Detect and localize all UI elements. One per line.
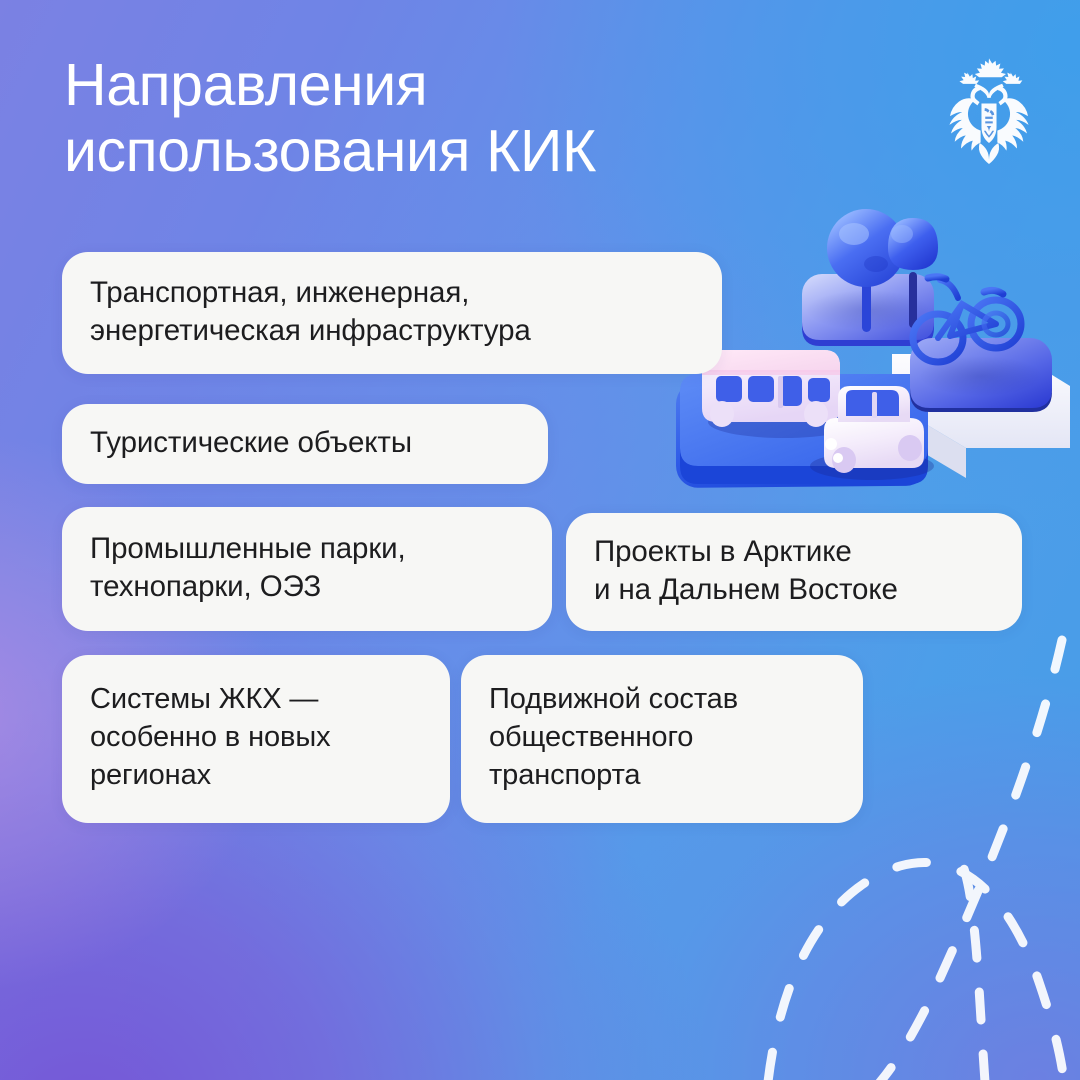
poster-canvas: Направления использования КИК [0, 0, 1080, 1080]
card-infrastructure[interactable]: Транспортная, инженерная, энергетическая… [62, 252, 722, 374]
header: Направления использования КИК [64, 52, 1036, 184]
card-utilities-zhkh[interactable]: Системы ЖКХ — особенно в новых регионах [62, 655, 450, 823]
card-arctic-far-east[interactable]: Проекты в Арктике и на Дальнем Востоке [566, 513, 1022, 631]
card-tourism[interactable]: Туристические объекты [62, 404, 548, 484]
card-industrial-parks[interactable]: Промышленные парки, технопарки, ОЭЗ [62, 507, 552, 631]
card-public-transport-fleet[interactable]: Подвижной состав общественного транспорт… [461, 655, 863, 823]
russian-double-headed-eagle-emblem [942, 56, 1036, 166]
page-title: Направления использования КИК [64, 52, 596, 184]
